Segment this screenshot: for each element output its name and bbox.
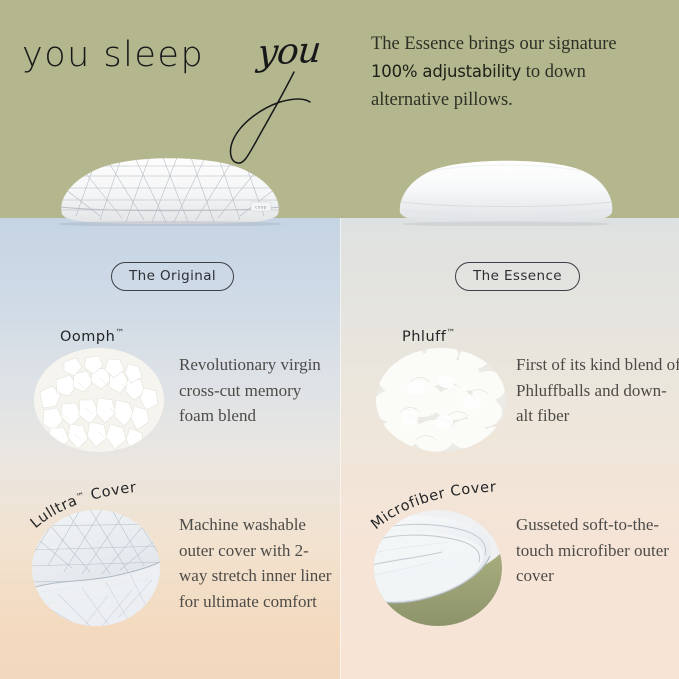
label-text: Oomph [60, 329, 115, 345]
essence-pillow-image [392, 158, 620, 226]
panel-divider [340, 218, 341, 679]
original-pillow-image: coop [48, 152, 292, 226]
trademark-symbol: ™ [446, 328, 455, 338]
feature-label-phluff: Phluff™ [402, 328, 455, 345]
feature-description-oomph: Revolutionary virgin cross-cut memory fo… [179, 352, 335, 429]
badge-the-essence[interactable]: The Essence [455, 262, 580, 291]
svg-text:coop: coop [255, 205, 267, 210]
feature-oomph: Oomph™ [14, 328, 334, 478]
lulltra-cover-fabric-photo [32, 510, 160, 626]
microfiber-cover-corner-photo [374, 510, 502, 626]
feature-microfiber-cover: Microfiber Cover [356, 486, 676, 636]
shredded-memory-foam-photo [34, 348, 164, 452]
label-text: Phluff [402, 329, 446, 345]
paragraph-part-1: The Essence brings our signature [371, 34, 617, 54]
feature-description-phluff: First of its kind blend of Phluffballs a… [516, 352, 679, 429]
feature-phluff: Phluff™ [356, 328, 676, 478]
feature-label-oomph: Oomph™ [60, 328, 124, 345]
headline: you sleep you [20, 22, 350, 132]
feature-description-microfiber-cover: Gusseted soft-to-the-touch microfiber ou… [516, 512, 679, 589]
header-paragraph: The Essence brings our signature 100% ad… [371, 30, 661, 114]
feature-description-lulltra-cover: Machine washable outer cover with 2-way … [179, 512, 335, 614]
badge-the-original[interactable]: The Original [111, 262, 234, 291]
phluffball-fiber-photo [376, 348, 506, 452]
pillow-comparison-infographic: you sleep you The Essence brings our sig… [0, 0, 679, 679]
trademark-symbol: ™ [115, 328, 124, 338]
paragraph-accent: 100% adjustability [371, 62, 521, 81]
feature-lulltra-cover: Lulltra™ Cover [14, 486, 334, 636]
